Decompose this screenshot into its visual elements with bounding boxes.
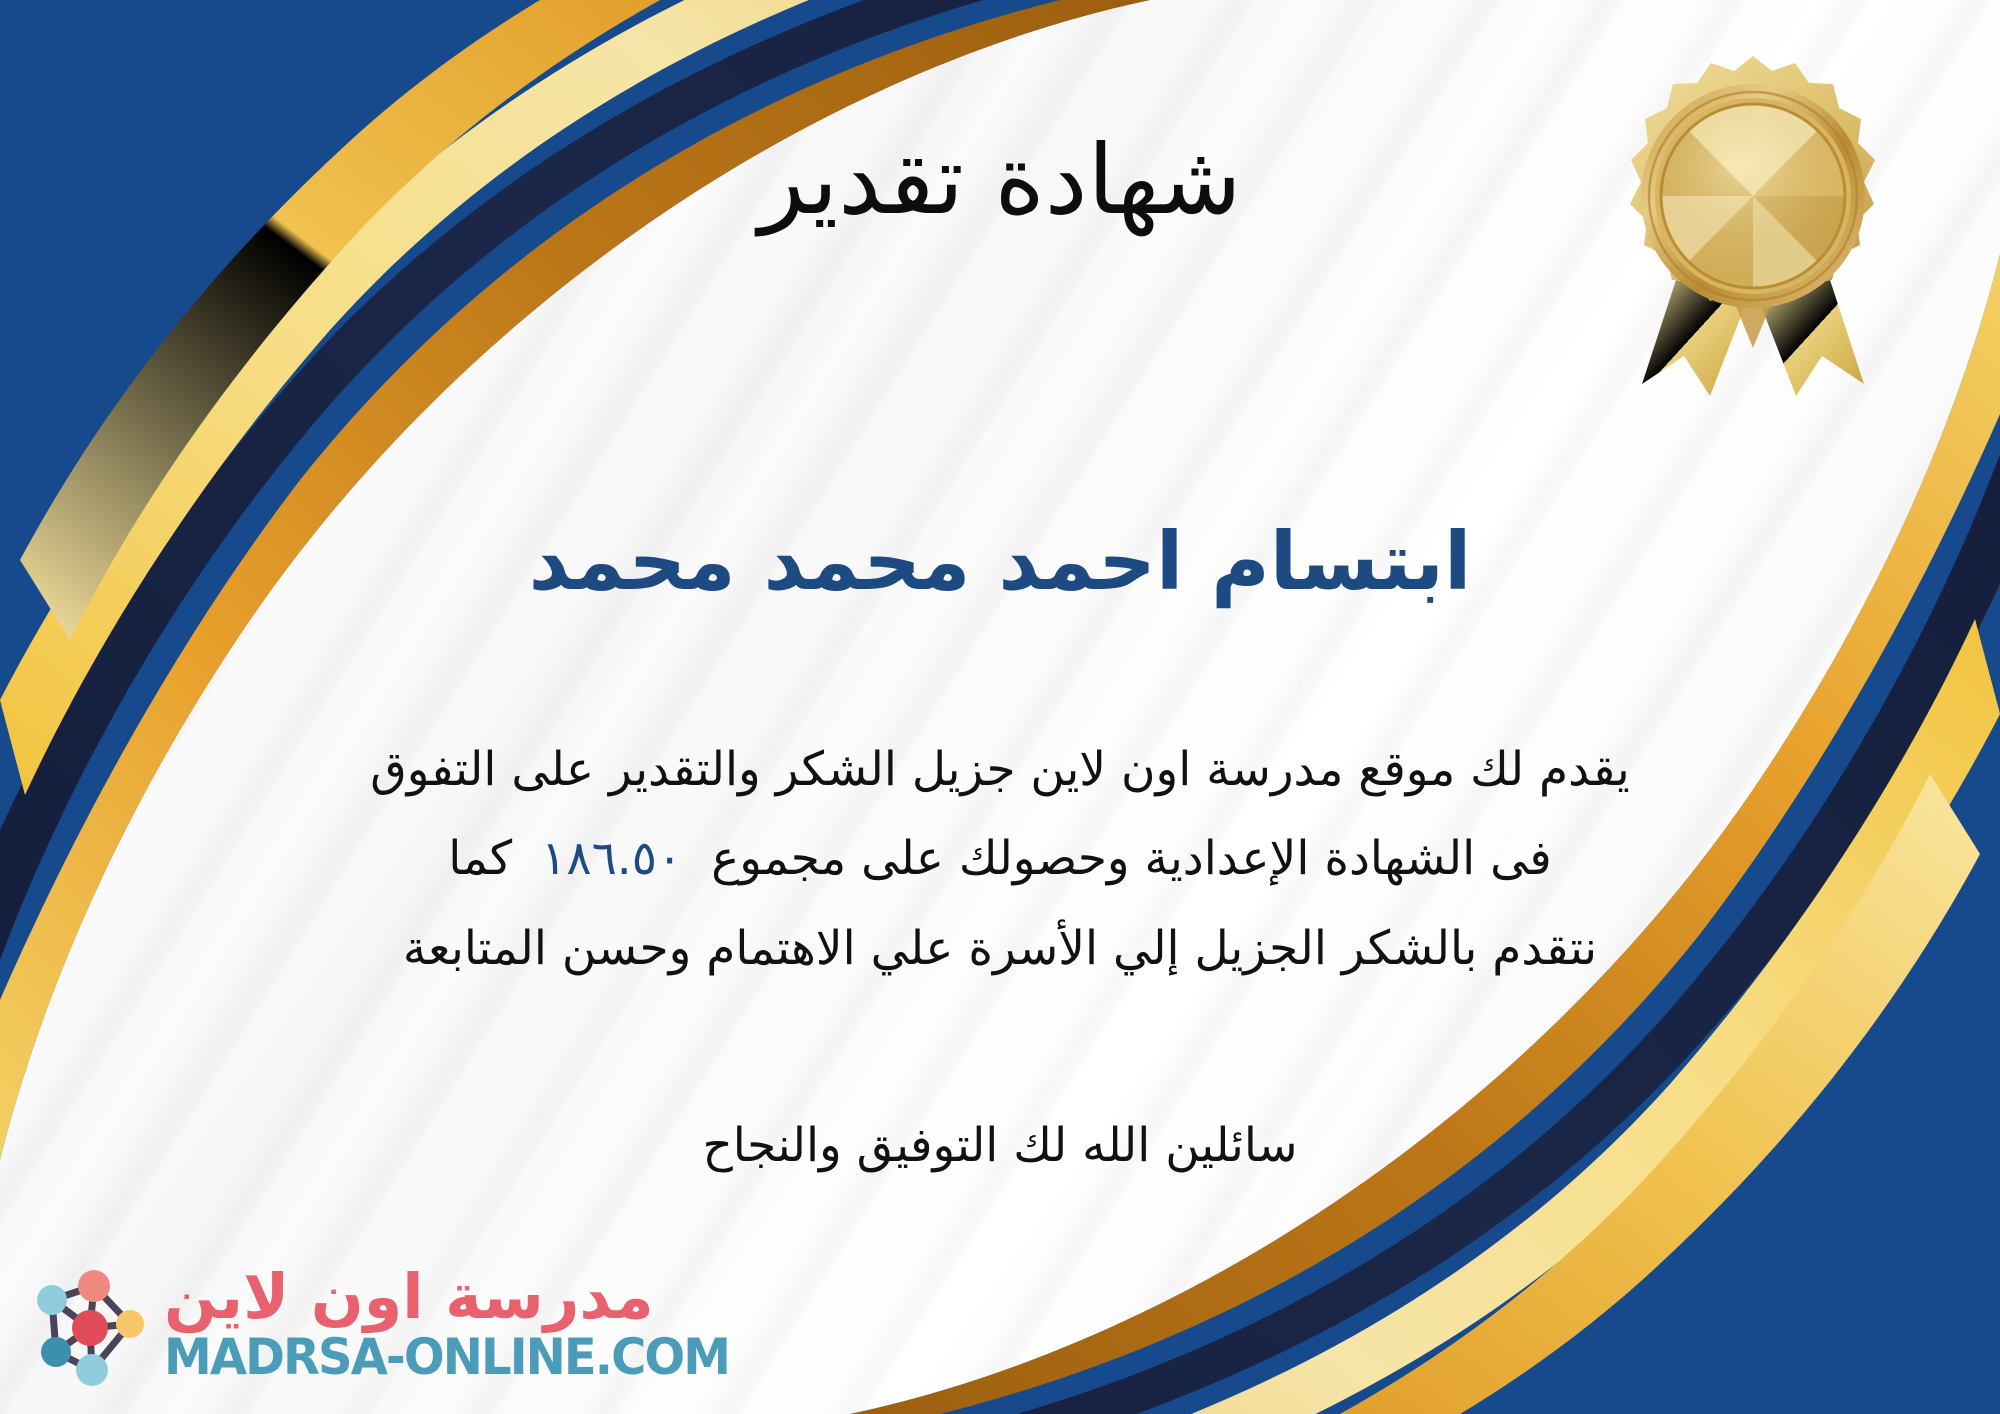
body-line-2-prefix: فى الشهادة الإعدادية وحصولك على مجموع [711,831,1552,886]
node-amber-right [116,1310,144,1338]
body-line-2-suffix: كما [448,831,512,886]
total-score-value: ١٨٦.٥٠ [527,831,696,886]
certificate-body: يقدم لك موقع مدرسة اون لاين جزيل الشكر و… [60,725,1940,993]
rosette-center-medallion [1661,104,1845,288]
site-logo[interactable]: مدرسة اون لاين MADRSA-ONLINE.COM [22,1258,753,1390]
body-line-1: يقدم لك موقع مدرسة اون لاين جزيل الشكر و… [60,725,1940,814]
network-nodes-icon [22,1258,154,1390]
corner-band-gold-tl [0,0,1150,795]
body-line-3: نتقدم بالشكر الجزيل إلي الأسرة علي الاهت… [60,904,1940,993]
body-line-2: فى الشهادة الإعدادية وحصولك على مجموع ١٨… [60,814,1940,903]
node-light-blue-bottom [76,1354,108,1386]
closing-wish-line: سائلين الله لك التوفيق والنجاح [0,1108,2000,1183]
logo-arabic-name: مدرسة اون لاين [164,1266,654,1328]
node-coral-top [78,1270,110,1302]
recipient-name: ابتسام احمد محمد محمد [0,516,2000,608]
node-teal-bottom-left [41,1337,71,1367]
gold-award-rosette-icon [1598,48,1908,400]
certificate-page: شهادة تقدير ابتسام احمد محمد محمد يقدم ل… [0,0,2000,1414]
node-red-center [72,1310,108,1346]
node-light-blue-top-left [37,1285,67,1315]
logo-text-group: مدرسة اون لاين MADRSA-ONLINE.COM [164,1266,753,1382]
logo-domain-text: MADRSA-ONLINE.COM [164,1332,729,1382]
